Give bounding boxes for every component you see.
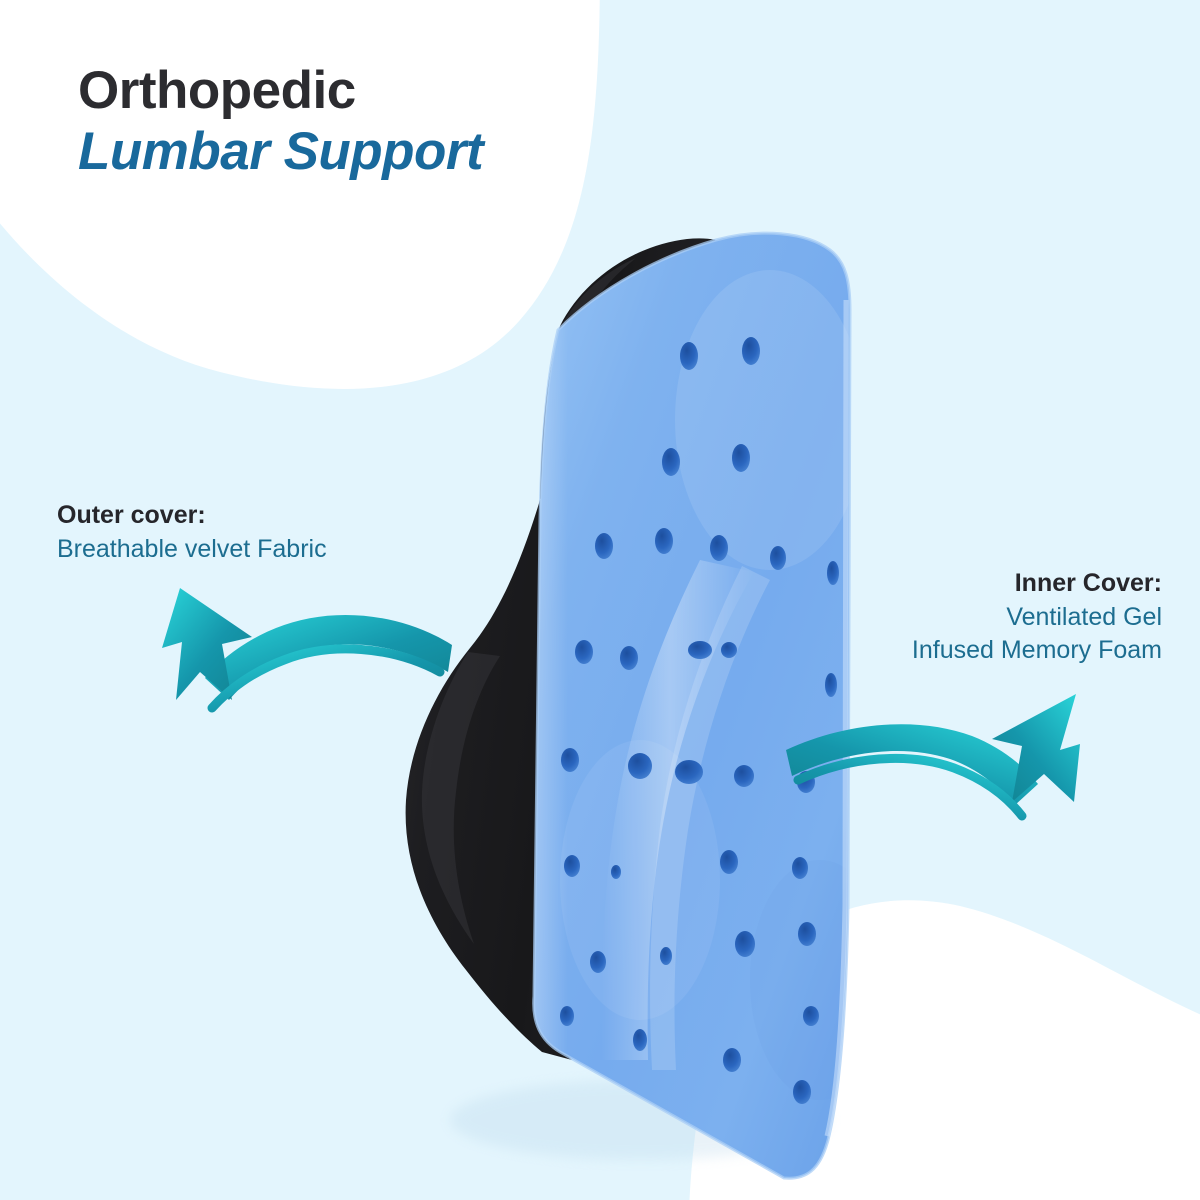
page-title: Orthopedic Lumbar Support <box>78 62 483 180</box>
callout-inner-cover: Inner Cover: Ventilated Gel Infused Memo… <box>912 568 1162 666</box>
arrow-left-outer-cover <box>162 588 452 708</box>
callout-outer-cover-heading: Outer cover: <box>57 500 327 531</box>
callout-inner-cover-body-line1: Ventilated Gel <box>912 602 1162 633</box>
infographic-canvas: Orthopedic Lumbar Support Outer cover: B… <box>0 0 1200 1200</box>
title-line-secondary: Lumbar Support <box>78 123 483 180</box>
title-line-primary: Orthopedic <box>78 62 483 119</box>
arrow-right-inner-cover <box>786 694 1080 816</box>
callout-inner-cover-body-line2: Infused Memory Foam <box>912 635 1162 666</box>
callout-outer-cover-body: Breathable velvet Fabric <box>57 534 327 565</box>
callout-outer-cover: Outer cover: Breathable velvet Fabric <box>57 500 327 564</box>
callout-inner-cover-heading: Inner Cover: <box>912 568 1162 599</box>
